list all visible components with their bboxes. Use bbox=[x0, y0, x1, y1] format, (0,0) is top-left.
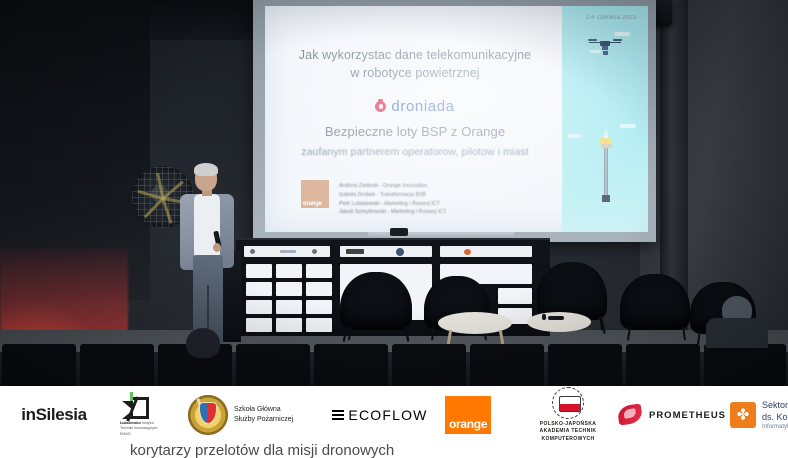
slide-subtitle-line-1: Bezpieczne loty BSP z Orange bbox=[265, 124, 565, 139]
insilesia-logo-text: inSilesia bbox=[21, 405, 86, 425]
pjatk-logo: POLSKO-JAPOŃSKA AKADEMIA TECHNIK KOMPUTE… bbox=[540, 387, 597, 443]
sponsor-chip bbox=[246, 300, 272, 314]
armchair bbox=[620, 274, 690, 330]
tower-base bbox=[602, 195, 610, 202]
credit-line: Andrzej Zielinski - Orange Innovation bbox=[339, 182, 539, 191]
audience-seat bbox=[626, 344, 700, 386]
armchair bbox=[340, 272, 412, 330]
sponsor-orange: orange bbox=[440, 386, 496, 444]
sponsor-logo-bar: inSilesia Łukasiewicz Instytut Techniki … bbox=[0, 386, 788, 444]
sektorowa-rada-line-1: Sektorowa Rada bbox=[762, 399, 788, 411]
sponsor-chip bbox=[306, 264, 332, 278]
tower-mast bbox=[604, 148, 608, 196]
prometheus-flame-shape bbox=[617, 403, 643, 425]
lukasiewicz-caption: Łukasiewicz Instytut Techniki Innowacyjn… bbox=[120, 421, 162, 437]
tower-signal-beam bbox=[603, 126, 609, 138]
sponsor-chip bbox=[276, 300, 302, 314]
sektorowa-rada-mark-icon bbox=[730, 402, 756, 428]
orange-wordmark: orange bbox=[449, 417, 487, 431]
prometheus-wordmark: PROMETHEUS bbox=[649, 410, 726, 421]
audience-seat bbox=[314, 344, 388, 386]
presentation-screen: 1-4 czerwca 2023 Jak wykorzystac dane te… bbox=[253, 0, 656, 242]
droniada-mark-icon bbox=[375, 101, 386, 112]
pjatk-label: POLSKO-JAPOŃSKA AKADEMIA TECHNIK KOMPUTE… bbox=[540, 421, 597, 443]
audience-seat bbox=[704, 344, 786, 386]
cloud-icon bbox=[614, 32, 630, 36]
sgsp-shield bbox=[199, 402, 217, 424]
pjatk-label-line-3: KOMPUTEROWYCH bbox=[540, 436, 597, 443]
audience-seat bbox=[80, 344, 154, 386]
armchair bbox=[537, 262, 607, 320]
presenter-hair bbox=[194, 163, 218, 176]
droniada-logo: droniada bbox=[265, 98, 565, 115]
audience-seat bbox=[470, 344, 544, 386]
lukasiewicz-name: Łukasiewicz bbox=[120, 421, 141, 425]
sponsor-sektorowa-rada: Sektorowa Rada ds. Kompetencji Informaty… bbox=[730, 386, 788, 444]
prometheus-logo: PROMETHEUS bbox=[618, 405, 726, 425]
sponsor-chip bbox=[276, 318, 302, 332]
sponsor-chip bbox=[246, 282, 272, 296]
caption-text: korytarzy przelotów dla misji dronowych bbox=[130, 444, 394, 458]
audience-seat bbox=[2, 344, 76, 386]
sektorowa-rada-line-3: Informatyka bbox=[762, 423, 788, 431]
slide-subtitle-line-2: zaufanym partnerem operatorow, pilotow i… bbox=[265, 146, 565, 158]
sponsor-chip bbox=[306, 300, 332, 314]
prometheus-flame-icon bbox=[618, 405, 644, 425]
sponsor-chip bbox=[276, 282, 302, 296]
cloud-icon bbox=[620, 124, 636, 128]
sgsp-label-line-1: Szkoła Główna bbox=[234, 405, 293, 415]
sponsor-lukasiewicz: Łukasiewicz Instytut Techniki Innowacyjn… bbox=[108, 386, 172, 444]
sponsor-mini-mark bbox=[396, 248, 404, 256]
sponsor-mini-mark bbox=[250, 249, 255, 254]
sponsor-ecoflow: ECOFLOW bbox=[332, 386, 428, 444]
pjatk-label-line-1: POLSKO-JAPOŃSKA bbox=[540, 421, 597, 428]
slide-orange-logo: orange bbox=[301, 180, 329, 208]
slide-title-line-1: Jak wykorzystac dane telekomunikacyjne bbox=[265, 46, 565, 64]
slide-orange-logo-label: orange bbox=[303, 201, 322, 207]
sektorowa-rada-line-2: ds. Kompetencji bbox=[762, 411, 788, 423]
sponsor-chip bbox=[498, 288, 532, 304]
drone-rotor-right bbox=[613, 39, 622, 41]
slide-speaker-credits: Andrzej Zielinski - Orange Innovation Iz… bbox=[339, 182, 539, 217]
pjatk-label-line-2: AKADEMIA TECHNIK bbox=[540, 428, 597, 435]
drone-payload bbox=[602, 46, 608, 50]
slide-date: 1-4 czerwca 2023 bbox=[585, 15, 636, 21]
audience-member-head bbox=[186, 328, 220, 358]
sponsor-mini-mark bbox=[346, 249, 364, 254]
slide-content: 1-4 czerwca 2023 Jak wykorzystac dane te… bbox=[265, 6, 648, 232]
sponsor-chip bbox=[246, 264, 272, 278]
audience-seat bbox=[236, 344, 310, 386]
credit-line: Jakub Szmytkowski - Marketing i Rozwoj I… bbox=[339, 208, 539, 217]
sgsp-emblem-icon bbox=[188, 395, 228, 435]
caption-area: korytarzy przelotów dla misji dronowych bbox=[0, 444, 788, 458]
audience-seat bbox=[392, 344, 466, 386]
slide-title-line-2: w robotyce powietrznej bbox=[265, 64, 565, 82]
side-table bbox=[527, 312, 591, 332]
sgsp-label: Szkoła Główna Służby Pożarniczej bbox=[234, 405, 293, 425]
sponsor-mini-mark bbox=[280, 250, 296, 253]
seated-attendee-body bbox=[706, 318, 768, 348]
sponsor-prometheus: PROMETHEUS bbox=[620, 386, 724, 444]
ecoflow-logo: ECOFLOW bbox=[332, 407, 427, 423]
drone-payload-lower bbox=[603, 51, 608, 55]
drone-rotor-left bbox=[588, 39, 597, 41]
credit-line: Izabela Drobek - Transformacja B2B bbox=[339, 191, 539, 200]
pjatk-seal-icon bbox=[552, 387, 584, 419]
credit-line: Piotr Lubiejewski - Marketing i Rozwoj I… bbox=[339, 200, 539, 209]
sponsor-chip bbox=[246, 318, 272, 332]
slide-title: Jak wykorzystac dane telekomunikacyjne w… bbox=[265, 46, 565, 82]
sponsor-insilesia: inSilesia bbox=[8, 386, 100, 444]
mic-stand-on-table bbox=[542, 314, 546, 320]
sponsor-mini-mark bbox=[312, 249, 317, 254]
ecoflow-wordmark: ECOFLOW bbox=[348, 407, 427, 423]
slide-sky-illustration bbox=[562, 6, 648, 232]
screen-foot bbox=[390, 228, 408, 236]
lukasiewicz-logo-icon: Łukasiewicz Instytut Techniki Innowacyjn… bbox=[120, 393, 160, 437]
presenter-hand bbox=[213, 243, 221, 252]
audience-seat bbox=[548, 344, 622, 386]
drone-icon bbox=[588, 38, 622, 54]
microphone-on-table bbox=[548, 316, 564, 320]
sponsor-strip bbox=[440, 246, 532, 257]
telecom-tower-icon bbox=[600, 132, 612, 204]
sponsor-chip bbox=[306, 282, 332, 296]
sektorowa-rada-logo: Sektorowa Rada ds. Kompetencji Informaty… bbox=[730, 399, 788, 431]
audience-seat-row bbox=[0, 344, 788, 386]
cloud-icon bbox=[568, 134, 581, 138]
video-frame: 1-4 czerwca 2023 Jak wykorzystac dane te… bbox=[0, 0, 788, 386]
ecoflow-bars-icon bbox=[332, 410, 344, 420]
sponsor-chip bbox=[306, 318, 332, 332]
sponsor-sgsp: Szkoła Główna Służby Pożarniczej bbox=[188, 386, 338, 444]
sponsor-chip bbox=[276, 264, 302, 278]
droniada-wordmark: droniada bbox=[391, 98, 454, 115]
sponsor-pjatk: POLSKO-JAPOŃSKA AKADEMIA TECHNIK KOMPUTE… bbox=[520, 386, 616, 444]
sgsp-label-line-2: Służby Pożarniczej bbox=[234, 415, 293, 425]
orange-logo-icon: orange bbox=[445, 396, 491, 434]
sektorowa-rada-label: Sektorowa Rada ds. Kompetencji Informaty… bbox=[762, 399, 788, 431]
sponsor-mini-mark bbox=[464, 249, 471, 255]
drone-arm-right bbox=[609, 42, 621, 44]
